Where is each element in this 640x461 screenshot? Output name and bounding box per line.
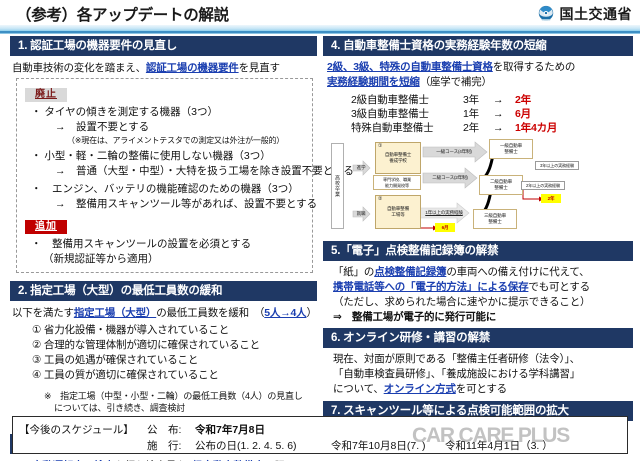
diagram-arrow-course2-label: 二級コース(2年制) — [425, 173, 475, 183]
section-5-line2-b: でも可とする — [528, 281, 590, 293]
abolish-item-3-arrow: → 整備用スキャンツール等があれば、設置不要とする — [21, 197, 308, 212]
section-2-lead-a: 以下を満たす — [12, 307, 74, 319]
schedule-row1-value: 令和7年7月8日 — [195, 422, 265, 437]
ministry-branding: 国土交通省 — [537, 4, 633, 24]
add-item-1-note: （新規認証等から適用） — [21, 252, 308, 267]
career-path-diagram: 高校卒業 進学 就職 自動車整備士 養成学校 ① 専門学校、職 — [323, 137, 633, 239]
section-2-note-line1: ※ 指定工場（中型・小型・二輪）の最低工員数（4人）の見直し — [10, 390, 317, 402]
section-5-line3: （ただし、求められた場合に速やかに提示できること） — [323, 295, 633, 310]
section-5-line1-link[interactable]: 点検整備記録簿 — [374, 266, 446, 278]
section-6-line2: 「自動車検査員研修」、「養成施設における学科講習」 — [323, 367, 633, 382]
watermark: CAR CARE PLUS — [412, 424, 569, 448]
section-2-note-line2: については、引き続き、調査検討 — [10, 402, 317, 414]
section-6-header: 6. オンライン研修・講習の解禁 — [323, 328, 633, 349]
qual-after-2: 6月 — [515, 107, 531, 121]
table-row: 3級自動車整備士 1年 → 6月 — [351, 107, 633, 121]
abolish-item-1-note: （※現在は、アライメントテスタでの測定又は外注が一般的） — [21, 135, 308, 146]
section-2-lead-link[interactable]: 指定工場（大型） — [74, 307, 156, 319]
qual-before-1: 3年 — [463, 93, 493, 107]
abolish-item-1-arrow: → 設置不要とする — [21, 120, 308, 135]
condition-2: ② 合理的な管理体制が適切に確保されていること — [10, 338, 317, 353]
ministry-name: 国土交通省 — [560, 4, 633, 24]
diagram-arrow-course1-label: 一級コース(4年制) — [427, 147, 481, 157]
diagram-node1-sublabel: 専門学校、職業 能力開発校等 — [373, 175, 421, 190]
section-2-lead: 以下を満たす指定工場（大型）の最低工員数を緩和 （5人→4人） — [10, 305, 317, 321]
schedule-row1-key: 公 布: — [147, 422, 181, 437]
section-1-lead: 自動車技術の変化を踏まえ、認証工場の機器要件を見直す — [10, 60, 317, 76]
schedule-row2-value: 公布の日(1. 2. 4. 5. 6) — [195, 438, 297, 453]
section-5-line2-link[interactable]: 携帯電話等への「電子的方法」による保存 — [333, 281, 528, 293]
abolish-item-2-bullet: ・ 小型・軽・二輪の整備に使用しない機器（3つ） — [21, 149, 308, 164]
diagram-node2-label: 自動車整備 工場等 — [376, 206, 420, 218]
section-6-line3: について、オンライン方式を可とする — [323, 382, 633, 397]
section-2-lead-link2[interactable]: 5人→4人 — [264, 307, 306, 319]
table-row: 特殊自動車整備士 2年 → 1年4カ月 — [351, 121, 633, 135]
abolish-badge-row: 廃止 — [25, 84, 308, 102]
qual-before-3: 2年 — [463, 121, 493, 135]
diagram-start-label: 高校卒業 — [334, 175, 341, 197]
diagram-node1-number: ① — [378, 143, 382, 149]
header-band-line-light — [0, 33, 640, 34]
page-title: （参考）各アップデートの解説 — [16, 3, 229, 25]
section-1-header: 1. 認証工場の機器要件の見直し — [10, 36, 317, 57]
qual-after-1: 2年 — [515, 93, 531, 107]
section-1-detail-box: 廃止 ・ タイヤの傾きを測定する機器（3つ） → 設置不要とする （※現在は、ア… — [16, 78, 313, 273]
diagram-arrow-experience-label: 1年以上の実務経験 — [419, 208, 469, 218]
diagram-result-grade1: 一級自動車 整備士 — [489, 139, 533, 159]
section-1: 1. 認証工場の機器要件の見直し 自動車技術の変化を踏まえ、認証工場の機器要件を… — [10, 36, 317, 273]
add-item-1: ・ 整備用スキャンツールの設置を必須とする （新規認証等から適用） — [21, 237, 308, 267]
section-4-lead-1: 2級、3級、特殊の自動車整備士資格を取得するための — [323, 60, 633, 75]
diagram-highlight-6months: 6月 — [435, 223, 455, 232]
section-2-note: ※ 指定工場（中型・小型・二輪）の最低工員数（4人）の見直し については、引き続… — [10, 390, 317, 414]
condition-4: ④ 工員の質が適切に確保されていること — [10, 368, 317, 383]
schedule-row2-key: 施 行: — [147, 438, 181, 453]
diagram-node2-number: ② — [378, 196, 382, 202]
section-4-lead-a: を取得するための — [493, 61, 575, 73]
diagram-result-grade3: 三級自動車 整備士 — [473, 209, 517, 229]
section-2-lead-c: ） — [306, 307, 316, 319]
section-5-line1-b: の車両への備え付けに代えて、 — [446, 266, 589, 278]
right-column: 4. 自動車整備士資格の実務経験年数の短縮 2級、3級、特殊の自動車整備士資格を… — [323, 36, 633, 455]
qual-before-2: 1年 — [463, 107, 493, 121]
section-5-line4: ⇒ 整備工場が電子的に発行可能に — [323, 310, 633, 325]
abolish-item-3: ・ エンジン、バッテリの機能確認のための機器（3つ） → 整備用スキャンツール等… — [21, 182, 308, 212]
diagram-highlight-2years: 2年 — [541, 194, 561, 203]
section-2-lead-b: の最低工員数を緩和 （ — [156, 307, 264, 319]
diagram-node-start: 高校卒業 — [331, 143, 344, 229]
section-5: 5.「電子」点検整備記録簿の解禁 「紙」の点検整備記録簿の車両への備え付けに代え… — [323, 241, 633, 325]
qual-name-1: 2級自動車整備士 — [351, 93, 463, 107]
left-column: 1. 認証工場の機器要件の見直し 自動車技術の変化を踏まえ、認証工場の機器要件を… — [10, 36, 317, 461]
diagram-label-shingaku: 進学 — [352, 163, 370, 172]
diagram-node1-label: 自動車整備士 養成学校 — [376, 152, 420, 164]
add-badge-row: 追加 — [25, 216, 308, 234]
section-5-line1-a: 「紙」の — [333, 266, 374, 278]
abolish-item-1-bullet: ・ タイヤの傾きを測定する機器（3つ） — [21, 105, 308, 120]
badge-abolish: 廃止 — [25, 88, 67, 102]
section-4-table: 2級自動車整備士 3年 → 2年 3級自動車整備士 1年 → 6月 特殊自動車整… — [323, 93, 633, 135]
section-6-line3-b: を可とする — [456, 383, 507, 395]
diagram-label-shushoku: 就職 — [352, 209, 370, 218]
diagram-result-grade2: 二級自動車 整備士 — [479, 175, 523, 195]
qual-name-2: 3級自動車整備士 — [351, 107, 463, 121]
section-5-header: 5.「電子」点検整備記録簿の解禁 — [323, 241, 633, 262]
section-2-conditions: ① 省力化設備・機器が導入されていること ② 合理的な管理体制が適切に確保されて… — [10, 323, 317, 383]
diagram-exp-box-2yr: 2年以上の実務経験 — [521, 181, 565, 190]
section-4-lead-link[interactable]: 2級、3級、特殊の自動車整備士資格 — [327, 61, 493, 73]
section-6-line3-link[interactable]: オンライン方式 — [384, 383, 456, 395]
section-6: 6. オンライン研修・講習の解禁 現在、対面が原則である「整備主任者研修（法令）… — [323, 328, 633, 397]
abolish-item-2: ・ 小型・軽・二輪の整備に使用しない機器（3つ） → 普通（大型・中型）・大特を… — [21, 149, 308, 179]
qual-arrow-2: → — [493, 107, 515, 121]
qual-arrow-3: → — [493, 121, 515, 135]
section-4-header: 4. 自動車整備士資格の実務経験年数の短縮 — [323, 36, 633, 57]
abolish-item-2-arrow: → 普通（大型・中型）・大特を扱う工場を除き設置不要とする — [21, 164, 308, 179]
section-4: 4. 自動車整備士資格の実務経験年数の短縮 2級、3級、特殊の自動車整備士資格を… — [323, 36, 633, 239]
section-1-lead-link[interactable]: 認証工場の機器要件 — [146, 62, 239, 74]
slide-page: （参考）各アップデートの解説 国土交通省 1. 認証工場の機器要件の見直し 自動… — [0, 0, 640, 461]
section-6-line3-a: について、 — [333, 383, 384, 395]
qual-arrow-1: → — [493, 93, 515, 107]
section-1-lead-b: を見直す — [239, 62, 280, 74]
condition-1: ① 省力化設備・機器が導入されていること — [10, 323, 317, 338]
section-5-line1: 「紙」の点検整備記録簿の車両への備え付けに代えて、 — [323, 265, 633, 280]
section-2-header: 2. 指定工場（大型）の最低工員数の緩和 — [10, 281, 317, 302]
section-4-lead-2: 実務経験期間を短縮（座学で補完） — [323, 75, 633, 90]
section-1-lead-a: 自動車技術の変化を踏まえ、 — [12, 62, 146, 74]
qual-name-3: 特殊自動車整備士 — [351, 121, 463, 135]
add-item-1-bullet: ・ 整備用スキャンツールの設置を必須とする — [21, 237, 308, 252]
mlit-circle-logo — [537, 5, 555, 23]
schedule-label: 【今後のスケジュール】 — [19, 422, 134, 437]
section-4-lead-b: （座学で補完） — [420, 76, 492, 88]
section-5-line2: 携帯電話等への「電子的方法」による保存でも可とする — [323, 280, 633, 295]
condition-3: ③ 工員の処遇が確保されていること — [10, 353, 317, 368]
section-4-lead-link2[interactable]: 実務経験期間を短縮 — [327, 76, 420, 88]
abolish-item-3-bullet: ・ エンジン、バッテリの機能確認のための機器（3つ） — [21, 182, 308, 197]
badge-add: 追加 — [25, 220, 67, 234]
section-2: 2. 指定工場（大型）の最低工員数の緩和 以下を満たす指定工場（大型）の最低工員… — [10, 281, 317, 414]
qual-after-3: 1年4カ月 — [515, 121, 557, 135]
table-row: 2級自動車整備士 3年 → 2年 — [351, 93, 633, 107]
diagram-exp-box-3yr: 3年以上の実務経験 — [535, 161, 579, 170]
abolish-item-1: ・ タイヤの傾きを測定する機器（3つ） → 設置不要とする （※現在は、アライメ… — [21, 105, 308, 146]
section-6-line1: 現在、対面が原則である「整備主任者研修（法令）」、 — [323, 352, 633, 367]
